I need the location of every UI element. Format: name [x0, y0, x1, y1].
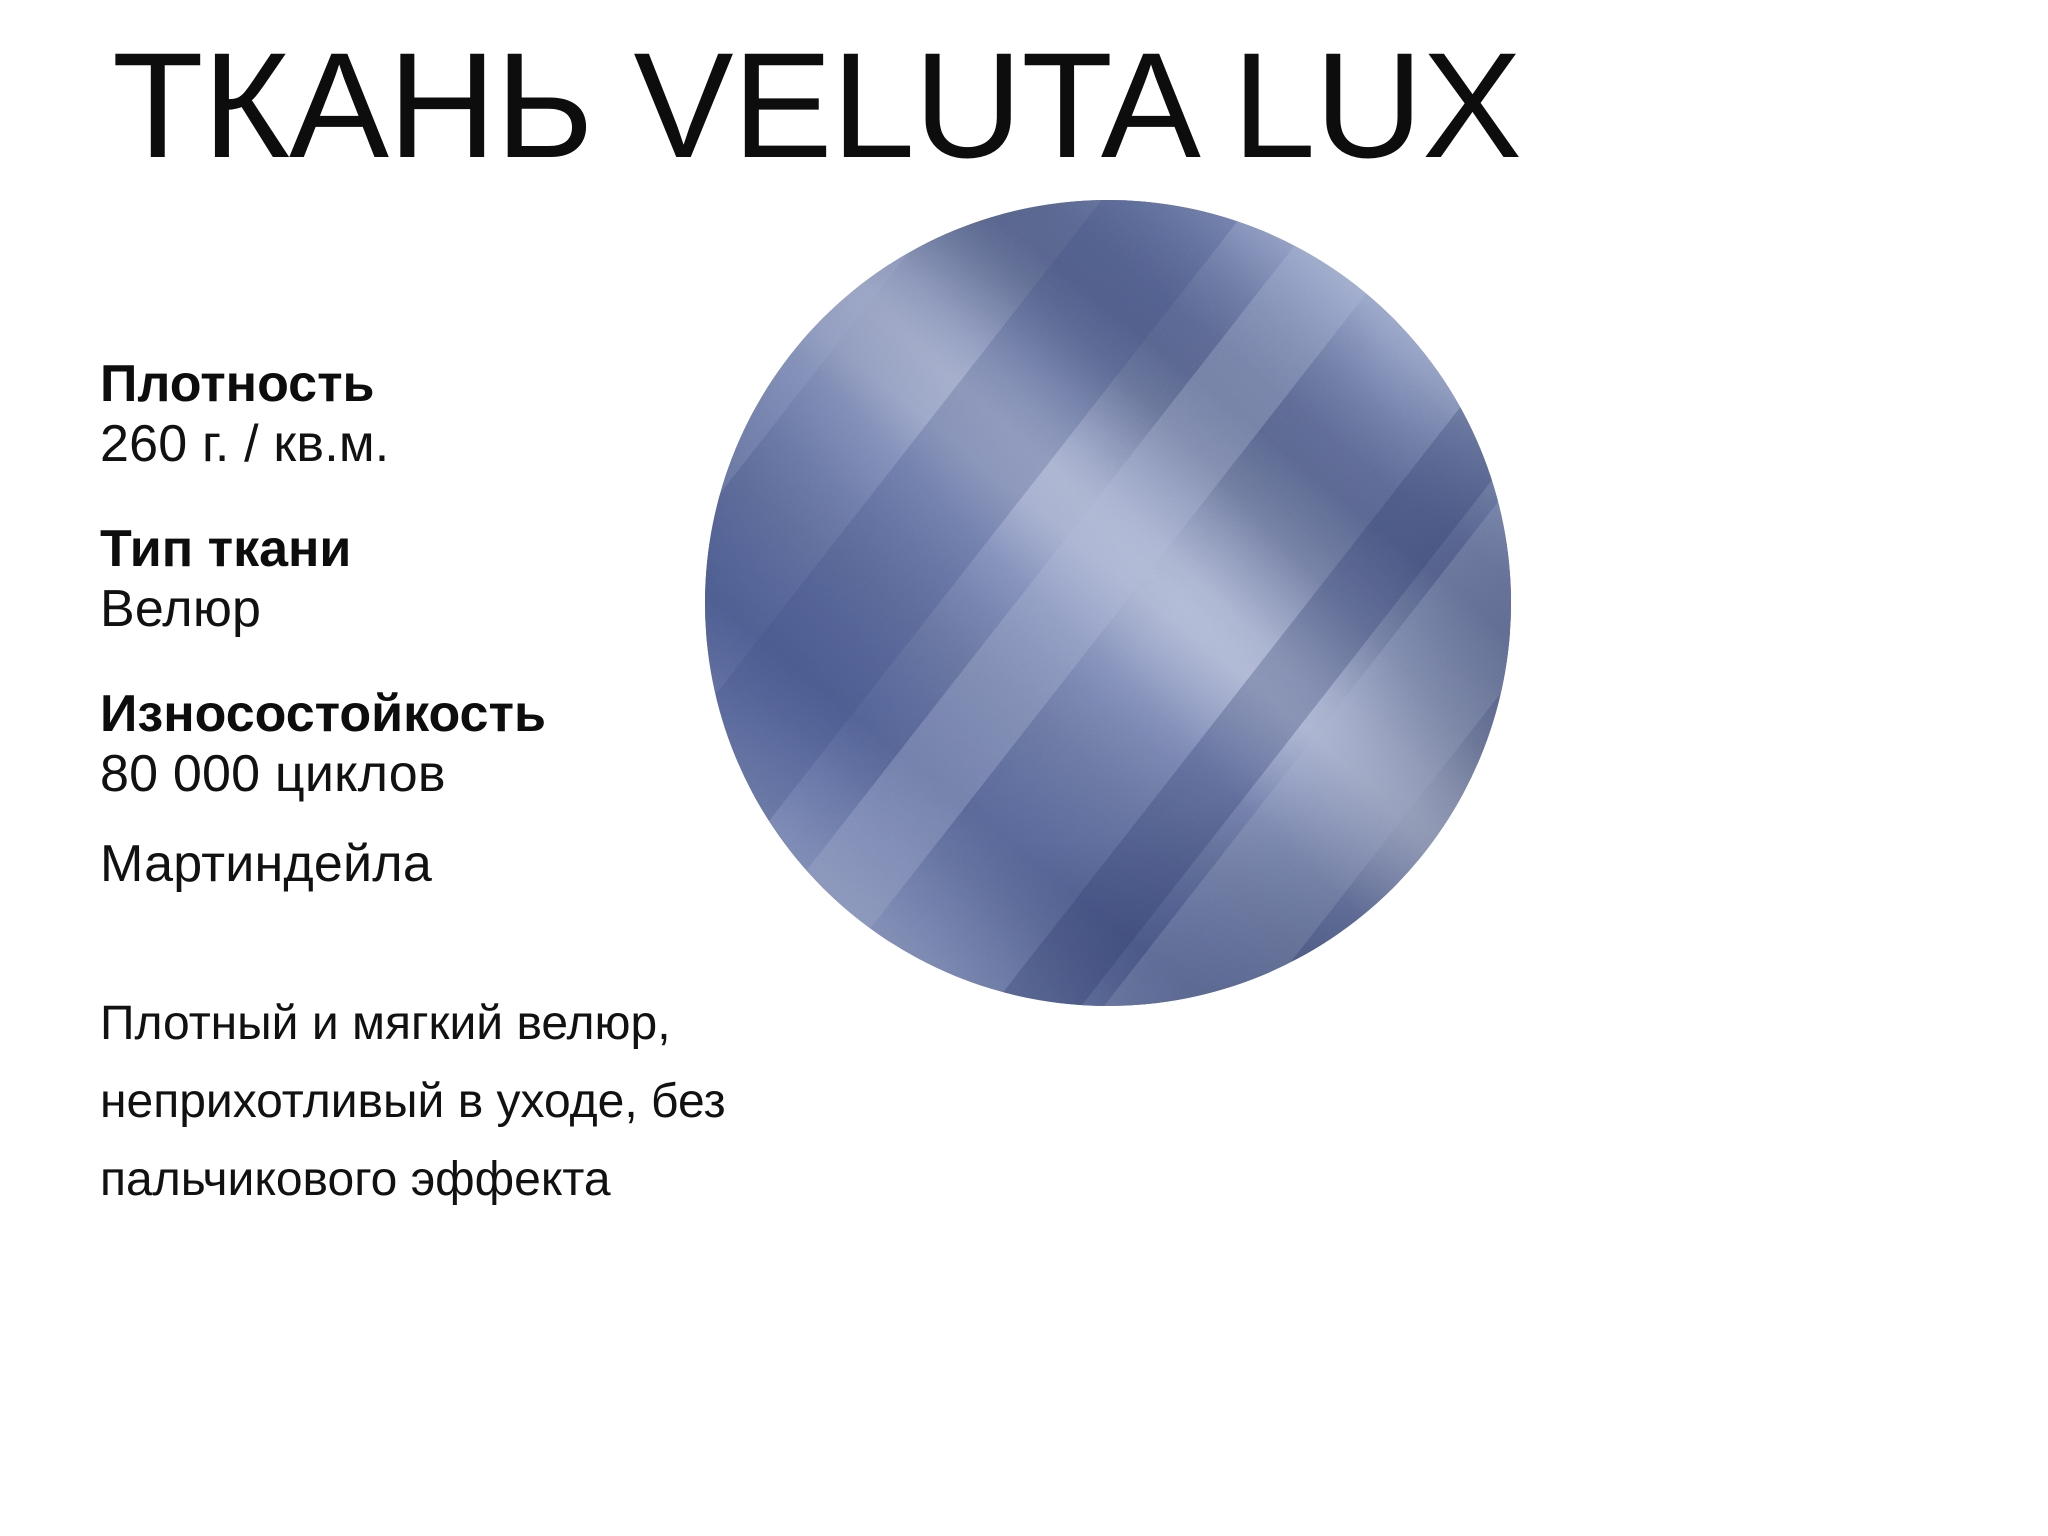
description-line-3: пальчикового эффекта — [100, 1141, 930, 1219]
page-title: ТКАНЬ VELUTA LUX — [112, 30, 1521, 180]
fabric-texture-image — [705, 200, 1511, 1006]
fabric-description: Плотный и мягкий велюр, неприхотливый в … — [100, 985, 930, 1218]
fabric-swatch-circle — [705, 200, 1511, 1006]
description-line-2: неприхотливый в уходе, без — [100, 1063, 930, 1141]
fabric-swatch — [705, 200, 1511, 1006]
